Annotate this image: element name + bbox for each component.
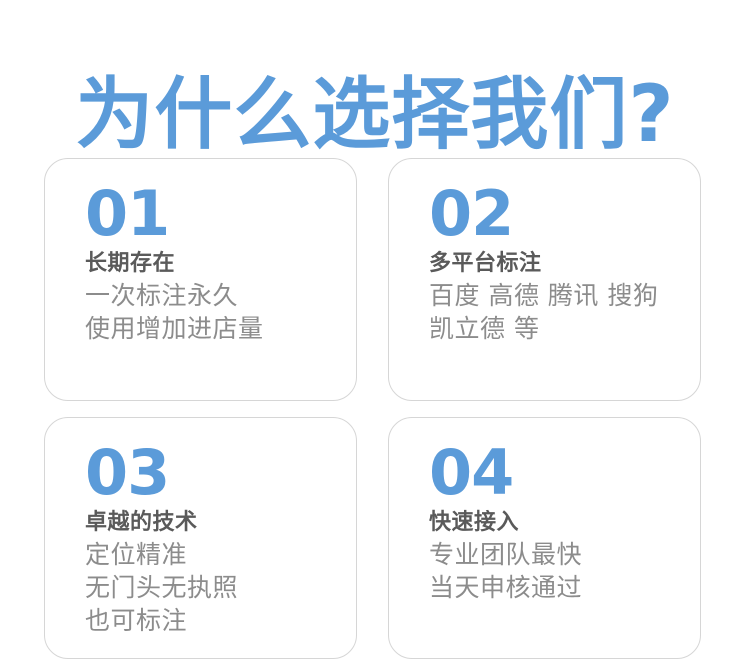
card-heading-02: 多平台标注 — [429, 249, 700, 279]
card-number-01: 01 — [85, 179, 356, 249]
card-heading-04: 快速接入 — [429, 508, 700, 538]
card-body-04: 专业团队最快 当天申核通过 — [429, 538, 700, 604]
card-body-02: 百度 高德 腾讯 搜狗 凯立德 等 — [429, 279, 700, 345]
card-body-01: 一次标注永久 使用增加进店量 — [85, 279, 356, 345]
card-body-line: 专业团队最快 — [429, 538, 700, 571]
feature-card-03[interactable]: 03 卓越的技术 定位精准 无门头无执照 也可标注 — [44, 417, 357, 659]
feature-card-grid: 01 长期存在 一次标注永久 使用增加进店量 02 多平台标注 百度 高德 腾讯… — [44, 158, 701, 659]
card-number-03: 03 — [85, 438, 356, 508]
card-heading-03: 卓越的技术 — [85, 508, 356, 538]
card-body-line: 当天申核通过 — [429, 571, 700, 604]
feature-card-04[interactable]: 04 快速接入 专业团队最快 当天申核通过 — [388, 417, 701, 659]
card-body-line: 使用增加进店量 — [85, 312, 356, 345]
card-body-line: 百度 高德 腾讯 搜狗 — [429, 279, 700, 312]
card-body-line: 凯立德 等 — [429, 312, 700, 345]
card-body-line: 定位精准 — [85, 538, 356, 571]
card-number-02: 02 — [429, 179, 700, 249]
promo-page: 为什么选择我们? 01 长期存在 一次标注永久 使用增加进店量 02 多平台标注… — [0, 0, 750, 668]
card-body-line: 也可标注 — [85, 604, 356, 637]
card-body-line: 无门头无执照 — [85, 571, 356, 604]
card-heading-01: 长期存在 — [85, 249, 356, 279]
card-body-03: 定位精准 无门头无执照 也可标注 — [85, 538, 356, 637]
page-title: 为什么选择我们? — [0, 60, 750, 170]
feature-card-02[interactable]: 02 多平台标注 百度 高德 腾讯 搜狗 凯立德 等 — [388, 158, 701, 401]
feature-card-01[interactable]: 01 长期存在 一次标注永久 使用增加进店量 — [44, 158, 357, 401]
card-number-04: 04 — [429, 438, 700, 508]
card-body-line: 一次标注永久 — [85, 279, 356, 312]
